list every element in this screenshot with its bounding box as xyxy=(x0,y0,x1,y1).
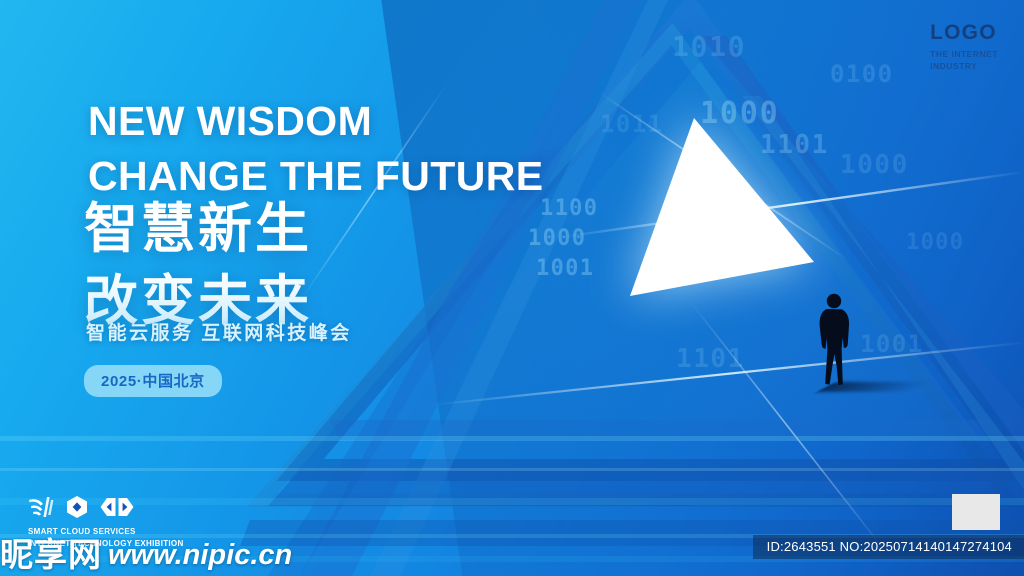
site-watermark: 昵享网 www.nipic.cn xyxy=(0,539,292,570)
stripes-swoosh-icon xyxy=(28,496,54,518)
logo-wordmark: LOGO xyxy=(930,22,998,43)
double-chevron-icon xyxy=(100,496,134,518)
headline-line-1: NEW WISDOM xyxy=(88,94,544,149)
logo-tagline: THE INTERNET INDUSTRY xyxy=(930,48,998,73)
brand-marks xyxy=(28,495,184,519)
subtitle: 智能云服务 互联网科技峰会 xyxy=(86,318,352,345)
date-location-badge: 2025·中国北京 xyxy=(84,365,222,397)
headline-english: NEW WISDOM CHANGE THE FUTURE xyxy=(88,94,544,203)
image-id-bar: ID:2643551 NO:20250714140147274104 xyxy=(753,535,1024,559)
logo-tagline-line-2: INDUSTRY xyxy=(930,60,998,72)
headline-chinese: 智慧新生 改变未来 xyxy=(84,194,312,338)
watermark-url: www.nipic.cn xyxy=(108,541,292,570)
hexagon-diamond-icon xyxy=(65,495,89,519)
chinese-title-line-1: 智慧新生 xyxy=(84,194,312,266)
logo-tagline-line-1: THE INTERNET xyxy=(930,48,998,60)
logo-block: LOGO THE INTERNET INDUSTRY xyxy=(930,22,998,73)
image-placeholder-box xyxy=(952,494,1000,530)
person-silhouette-icon xyxy=(812,292,856,392)
poster-canvas: 1000 1101 1100 1000 1001 1010 0100 1000 … xyxy=(0,0,1024,576)
watermark-cn: 昵享网 xyxy=(0,539,102,570)
